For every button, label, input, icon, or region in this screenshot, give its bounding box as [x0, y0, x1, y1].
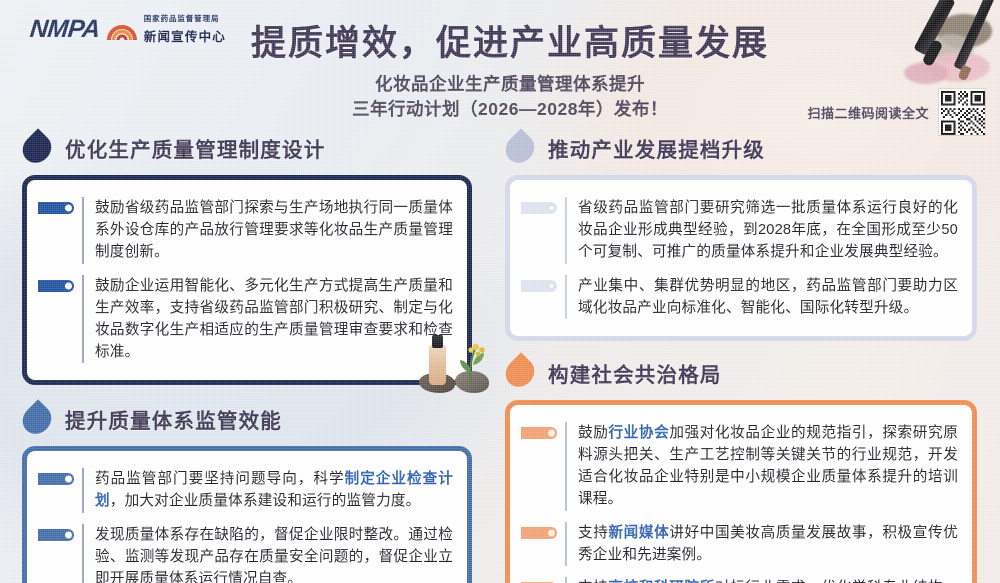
section-header-supervision: 提升质量体系监管效能 [22, 401, 472, 437]
list-item: 支持高校和科研院所对标行业需求，优化学科专业结构，培养化妆品高水平、应用型人才。 [521, 573, 958, 583]
arrow-pill-icon [521, 527, 557, 539]
list-item: 鼓励省级药品监管部门探索与生产场地执行同一质量体系外设仓库的产品放行管理要求等化… [38, 193, 453, 268]
infographic-poster: NMPA 国家药品监督管理局 新闻宣传中心 提质增效，促进产业高质量发展 化妆品… [0, 0, 1000, 583]
section-bullet-dot-icon [500, 353, 540, 393]
bullet-text: 支持新闻媒体讲好中国美妆高质量发展故事，积极宣传优秀企业和先进案例。 [565, 522, 958, 566]
section-bullet-dot-icon [500, 128, 540, 168]
section-card-supervision: 药品监管部门要坚持问题导向，科学制定企业检查计划，加大对企业质量体系建设和运行的… [22, 446, 472, 583]
arrow-pill-icon [38, 280, 74, 292]
arrow-pill-icon [38, 202, 74, 214]
arrow-pill-icon [521, 280, 557, 292]
page-subtitle-line2: 三年行动计划（2026—2028年）发布！ [230, 97, 790, 122]
bullet-text: 鼓励省级药品监管部门探索与生产场地执行同一质量体系外设仓库的产品放行管理要求等化… [82, 197, 453, 264]
list-item: 产业集中、集群优势明显的地区，药品监管部门要助力区域化妆品产业向标准化、智能化、… [521, 271, 958, 323]
list-item: 药品监管部门要坚持问题导向，科学制定企业检查计划，加大对企业质量体系建设和运行的… [38, 464, 453, 516]
section-header-industry: 推动产业发展提档升级 [505, 130, 977, 166]
bullet-text: 鼓励行业协会加强对化妆品企业的规范指引，探索研究原料源头把关、生产工艺控制等关键… [565, 422, 958, 511]
cosmetics-brushes-powder-icon [845, 0, 1000, 92]
poster-header: NMPA 国家药品监督管理局 新闻宣传中心 提质增效，促进产业高质量发展 化妆品… [0, 0, 1000, 128]
list-item: 发现质量体系存在缺陷的，督促企业限时整改。通过检验、监测等发现产品存在质量安全问… [38, 520, 453, 583]
bullet-marker-wrap [521, 522, 565, 539]
arrow-pill-icon [521, 202, 557, 214]
section-card-design: 鼓励省级药品监管部门探索与生产场地执行同一质量体系外设仓库的产品放行管理要求等化… [22, 175, 472, 385]
section-card-industry: 省级药品监管部门要研究筛选一批质量体系运行良好的化妆品企业形成典型经验，到202… [505, 175, 977, 341]
nmpa-wordmark: NMPA [29, 17, 101, 42]
nmpa-org-line1: 国家药品监督管理局 [144, 13, 226, 24]
highlight-text: 行业协会 [608, 425, 669, 441]
bullet-text: 省级药品监管部门要研究筛选一批质量体系运行良好的化妆品企业形成典型经验，到202… [565, 197, 958, 264]
bullet-text: 支持高校和科研院所对标行业需求，优化学科专业结构，培养化妆品高水平、应用型人才。 [565, 577, 958, 583]
bullet-marker-wrap [521, 275, 565, 292]
bullet-marker-wrap [38, 468, 82, 485]
qr-label: 扫描二维码阅读全文 [807, 103, 929, 122]
section-header-design: 优化生产质量管理制度设计 [22, 130, 472, 166]
bullet-marker-wrap [38, 524, 82, 541]
list-item: 鼓励企业运用智能化、多元化生产方式提高生产质量和生产效率，支持省级药品监管部门积… [38, 271, 453, 368]
highlight-text: 新闻媒体 [608, 525, 669, 541]
section-title-design: 优化生产质量管理制度设计 [65, 133, 325, 163]
bullet-marker-wrap [521, 197, 565, 214]
page-title: 提质增效，促进产业高质量发展 [230, 24, 790, 63]
list-item: 省级药品监管部门要研究筛选一批质量体系运行良好的化妆品企业形成典型经验，到202… [521, 193, 958, 268]
bullet-text: 产业集中、集群优势明显的地区，药品监管部门要助力区域化妆品产业向标准化、智能化、… [565, 275, 958, 319]
page-subtitle-line1: 化妆品企业生产质量管理体系提升 [230, 72, 790, 97]
section-title-supervision: 提升质量体系监管效能 [65, 404, 282, 434]
nmpa-logo: NMPA 国家药品监督管理局 新闻宣传中心 [30, 13, 226, 45]
arrow-pill-icon [38, 529, 74, 541]
section-title-governance: 构建社会共治格局 [548, 358, 722, 388]
nmpa-arc-logo-icon [107, 16, 137, 42]
section-card-governance: 鼓励行业协会加强对化妆品企业的规范指引，探索研究原料源头把关、生产工艺控制等关键… [505, 400, 977, 583]
qr-code-icon[interactable] [938, 88, 986, 136]
title-block: 提质增效，促进产业高质量发展 化妆品企业生产质量管理体系提升 三年行动计划（20… [230, 24, 790, 122]
section-title-industry: 推动产业发展提档升级 [548, 133, 765, 163]
left-column: 优化生产质量管理制度设计 鼓励省级药品监管部门探索与生产场地执行同一质量体系外设… [22, 130, 472, 583]
bullet-text: 药品监管部门要坚持问题导向，科学制定企业检查计划，加大对企业质量体系建设和运行的… [82, 468, 453, 512]
bullet-text: 发现质量体系存在缺陷的，督促企业限时整改。通过检验、监测等发现产品存在质量安全问… [82, 524, 453, 583]
bullet-marker-wrap [38, 275, 82, 292]
bullet-marker-wrap [521, 422, 565, 439]
section-bullet-dot-icon [17, 399, 57, 439]
bullet-text: 鼓励企业运用智能化、多元化生产方式提高生产质量和生产效率，支持省级药品监管部门积… [82, 275, 453, 364]
nmpa-org-line2: 新闻宣传中心 [144, 26, 226, 45]
arrow-pill-icon [38, 473, 74, 485]
bullet-marker-wrap [521, 577, 565, 583]
page-subtitle: 化妆品企业生产质量管理体系提升 三年行动计划（2026—2028年）发布！ [230, 72, 790, 122]
arrow-pill-icon [521, 427, 557, 439]
list-item: 支持新闻媒体讲好中国美妆高质量发展故事，积极宣传优秀企业和先进案例。 [521, 518, 958, 570]
bullet-marker-wrap [38, 197, 82, 214]
qr-block[interactable]: 扫描二维码阅读全文 [807, 88, 986, 136]
list-item: 鼓励行业协会加强对化妆品企业的规范指引，探索研究原料源头把关、生产工艺控制等关键… [521, 418, 958, 515]
right-column: 推动产业发展提档升级 省级药品监管部门要研究筛选一批质量体系运行良好的化妆品企业… [505, 130, 977, 583]
nmpa-org-text: 国家药品监督管理局 新闻宣传中心 [144, 13, 226, 45]
section-bullet-dot-icon [17, 128, 57, 168]
section-header-governance: 构建社会共治格局 [505, 355, 977, 391]
